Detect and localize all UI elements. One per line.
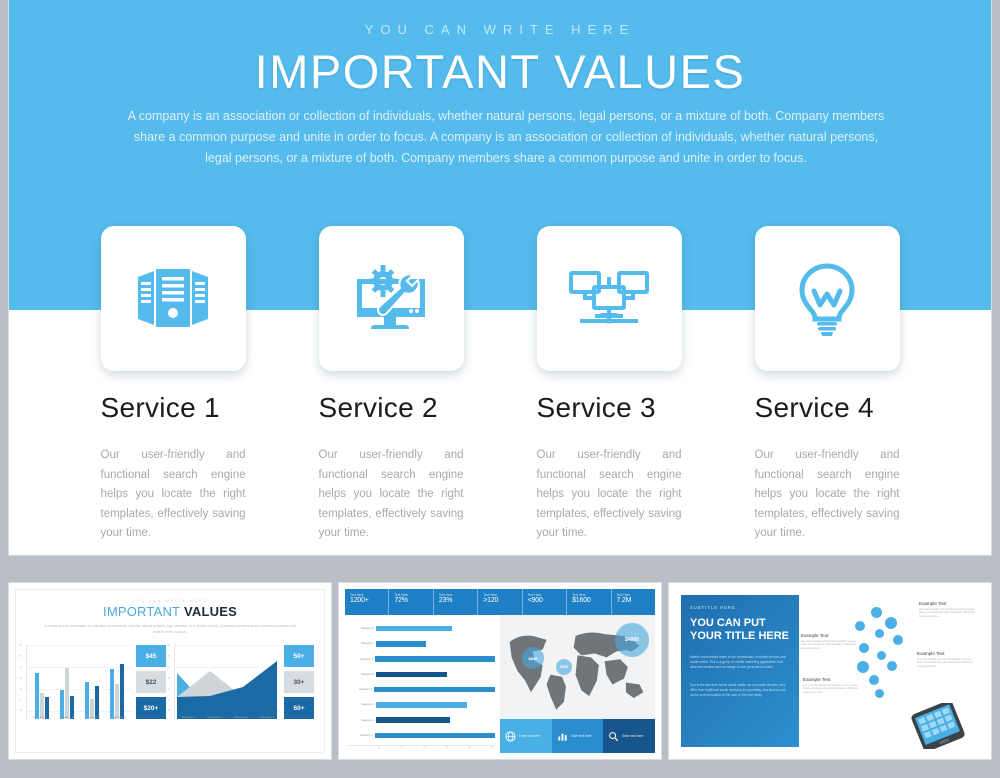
camera-icon	[859, 643, 869, 653]
thumb3-title: YOU CAN PUT YOUR TITLE HERE	[690, 617, 790, 643]
monitor-gear-wrench-icon	[353, 263, 429, 335]
thumb3-diagram: Example Text Our user-friendly and funct…	[799, 589, 985, 753]
category-label: Category 4	[112, 715, 126, 719]
thumbnail-strip: YOU CAN WRITE HERE IMPORTANT VALUES A co…	[0, 582, 1000, 778]
category-label: Category 2	[207, 715, 221, 719]
callout-title: Example Text	[917, 651, 979, 656]
callout-body: Our user-friendly and functional search …	[917, 658, 979, 669]
headphones-icon	[885, 617, 897, 629]
search-icon	[608, 731, 619, 742]
callout: Example Text Our user-friendly and funct…	[803, 677, 865, 695]
kpi-item: Text Here72%	[389, 589, 433, 615]
thumb1-canvas: YOU CAN WRITE HERE IMPORTANT VALUES A co…	[15, 589, 325, 753]
category-label: Category 4	[260, 715, 274, 719]
callout: Example Text Our user-friendly and funct…	[801, 633, 863, 651]
category-label: Category 7	[348, 642, 374, 645]
bar-row: Category 4	[348, 687, 495, 693]
world-map: $4000 $800 $200	[500, 615, 655, 719]
bar-chart: 65 43 21 0 Category 1 Category 2	[26, 645, 166, 719]
thumb1-chart-row: 65 43 21 0 Category 1 Category 2	[26, 645, 314, 719]
thumb3-subtitle: SUBTITLE HERE	[690, 605, 790, 610]
thumb3-canvas: SUBTITLE HERE YOU CAN PUT YOUR TITLE HER…	[675, 589, 985, 753]
category-label: Category 6	[348, 658, 373, 661]
icon-card-service-4[interactable]	[755, 226, 900, 371]
x-tick: 5	[491, 746, 493, 749]
badge-value: 30+	[284, 671, 314, 693]
service-title: Service 4	[755, 392, 900, 424]
bar-row: Category 5	[348, 672, 495, 678]
service-column-4: Service 4 Our user-friendly and function…	[755, 392, 900, 544]
heart-icon	[871, 607, 882, 618]
kpi-value: $1600	[572, 597, 610, 604]
kpi-item: Text Here1200+	[345, 589, 389, 615]
footer-tile[interactable]: Enter text here	[603, 719, 655, 753]
category-label: Category 1	[33, 715, 47, 719]
service-title: Service 2	[319, 392, 464, 424]
callout-title: Example Text	[803, 677, 865, 682]
thumb1-title-light: IMPORTANT	[103, 604, 180, 619]
chart-icon	[557, 731, 568, 742]
thumb1-eyebrow: YOU CAN WRITE HERE	[16, 599, 324, 603]
x-tick: 3	[446, 746, 448, 749]
footer-tile[interactable]: Enter text here	[500, 719, 552, 753]
service-body: Our user-friendly and functional search …	[319, 446, 464, 544]
service-column-2: Service 2 Our user-friendly and function…	[319, 392, 464, 544]
bar-row: Category 6	[348, 656, 495, 662]
slide-intro-text: A company is an association or collectio…	[121, 106, 891, 169]
service-column-3: Service 3 Our user-friendly and function…	[537, 392, 682, 544]
thumb3-title-panel: SUBTITLE HERE YOU CAN PUT YOUR TITLE HER…	[681, 595, 799, 747]
thumb1-title: IMPORTANT VALUES	[16, 604, 324, 619]
thumb2-canvas: Text Here1200+ Text Here72% Text Here23%…	[345, 589, 655, 753]
callout-title: Example Text	[801, 633, 863, 638]
x-axis: 0 1 2 3 4 5	[348, 745, 495, 749]
area-chart-badges: 50+ 30+ 60+	[284, 645, 314, 719]
kpi-item: Text Here7.2M	[612, 589, 655, 615]
thumbnail-charts-slide[interactable]: YOU CAN WRITE HERE IMPORTANT VALUES A co…	[8, 582, 332, 760]
tile-label: Enter text here	[622, 734, 643, 738]
thumb3-paragraph-1: Mobile social media refers to the combin…	[690, 655, 790, 671]
kpi-value: <900	[528, 597, 566, 604]
bar-row: Category 3	[348, 702, 495, 708]
kpi-value: 23%	[439, 597, 477, 604]
chat-icon	[893, 635, 903, 645]
footer-tile[interactable]: Enter text here	[552, 719, 604, 753]
bar-chart-badges: $45 $22 $20+	[136, 645, 166, 719]
icon-card-service-3[interactable]	[537, 226, 682, 371]
x-tick: 1	[401, 746, 403, 749]
monitor-network-icon	[568, 265, 650, 333]
x-tick: 2	[423, 746, 425, 749]
badge-value: $45	[136, 645, 166, 667]
service-body: Our user-friendly and functional search …	[755, 446, 900, 544]
mail-icon	[869, 675, 879, 685]
area-chart-categories: Category 1 Category 2 Category 3 Categor…	[175, 715, 280, 719]
bar-row: Category 1	[348, 733, 495, 739]
icon-card-service-2[interactable]	[319, 226, 464, 371]
thumbnail-mobile-slide[interactable]: SUBTITLE HERE YOU CAN PUT YOUR TITLE HER…	[668, 582, 992, 760]
kpi-value: >120	[483, 597, 521, 604]
lightbulb-icon	[796, 262, 858, 336]
service-body: Our user-friendly and functional search …	[101, 446, 246, 544]
bar-chart-categories: Category 1 Category 2 Category 3 Categor…	[27, 715, 132, 719]
category-label: Category 5	[348, 673, 374, 676]
main-slide: YOU CAN WRITE HERE IMPORTANT VALUES A co…	[8, 0, 992, 556]
thumb1-title-bold: VALUES	[184, 604, 237, 619]
kpi-item: Text Here23%	[434, 589, 478, 615]
callout-title: Example Text	[919, 601, 981, 606]
bar-row: Category 7	[348, 641, 495, 647]
thumb3-paragraph-2: Due to the fact that mobile social media…	[690, 683, 790, 699]
callout-body: Our user-friendly and functional search …	[919, 608, 981, 619]
bar-row: Category 2	[348, 717, 495, 723]
kpi-value: 1200+	[350, 597, 388, 604]
category-label: Category 1	[181, 715, 195, 719]
server-rack-icon	[134, 263, 212, 335]
category-label: Category 3	[234, 715, 248, 719]
kpi-item: Text Here$1600	[567, 589, 611, 615]
cloud-icon	[877, 651, 886, 660]
badge-value: $20+	[136, 697, 166, 719]
kpi-item: Text Here<900	[523, 589, 567, 615]
tile-label: Enter text here	[571, 734, 592, 738]
x-tick: 4	[469, 746, 471, 749]
area-chart: 65 43 21 0 Category 1 Category 2 Categ	[174, 645, 314, 719]
callout-body: Our user-friendly and functional search …	[803, 684, 865, 695]
service-body: Our user-friendly and functional search …	[537, 446, 682, 544]
map-bubble: $800	[522, 647, 544, 669]
category-label: Category 3	[348, 703, 374, 706]
map-bubble: $4000	[615, 623, 649, 657]
kpi-value: 7.2M	[617, 597, 655, 604]
page-title: IMPORTANT VALUES	[9, 44, 991, 99]
callout-body: Our user-friendly and functional search …	[801, 640, 863, 651]
service-title: Service 1	[101, 392, 246, 424]
thumb2-body: Category 8 Category 7 Category 6 Categor…	[345, 615, 655, 753]
x-tick: 0	[378, 746, 380, 749]
bar-chart-plot: 65 43 21 0 Category 1 Category 2	[26, 645, 132, 719]
horizontal-bar-chart: Category 8 Category 7 Category 6 Categor…	[345, 615, 500, 753]
service-title: Service 3	[537, 392, 682, 424]
category-label: Category 1	[348, 734, 373, 737]
cart-icon	[887, 661, 897, 671]
service-column-row: Service 1 Our user-friendly and function…	[9, 392, 991, 544]
kpi-item: Text Here>120	[478, 589, 522, 615]
category-label: Category 4	[348, 688, 372, 691]
badge-value: 60+	[284, 697, 314, 719]
link-icon	[875, 629, 884, 638]
thumbnail-dashboard-slide[interactable]: Text Here1200+ Text Here72% Text Here23%…	[338, 582, 662, 760]
category-label: Category 8	[348, 627, 374, 630]
category-label: Category 3	[86, 715, 100, 719]
thumb1-body: A company is an association or collectio…	[42, 623, 298, 635]
search-icon	[857, 661, 869, 673]
icon-card-row	[9, 226, 991, 371]
tile-label: Enter text here	[519, 734, 540, 738]
kpi-value: 72%	[394, 597, 432, 604]
area-chart-plot: 65 43 21 0 Category 1 Category 2 Categ	[174, 645, 280, 719]
map-bubble: $200	[556, 659, 572, 675]
category-label: Category 2	[348, 719, 374, 722]
pin-icon	[875, 689, 884, 698]
image-icon	[855, 621, 865, 631]
kpi-strip: Text Here1200+ Text Here72% Text Here23%…	[345, 589, 655, 615]
callout: Example Text Our user-friendly and funct…	[919, 601, 981, 619]
globe-icon	[505, 731, 516, 742]
icon-card-service-1[interactable]	[101, 226, 246, 371]
slide-eyebrow: YOU CAN WRITE HERE	[9, 22, 991, 37]
category-label: Category 2	[59, 715, 73, 719]
badge-value: 50+	[284, 645, 314, 667]
badge-value: $22	[136, 671, 166, 693]
service-column-1: Service 1 Our user-friendly and function…	[101, 392, 246, 544]
bar-row: Category 8	[348, 626, 495, 632]
thumb2-right: $4000 $800 $200 Enter text here Enter te…	[500, 615, 655, 753]
footer-tiles: Enter text here Enter text here Enter te…	[500, 719, 655, 753]
callout: Example Text Our user-friendly and funct…	[917, 651, 979, 669]
smartphone-illustration	[907, 703, 969, 749]
